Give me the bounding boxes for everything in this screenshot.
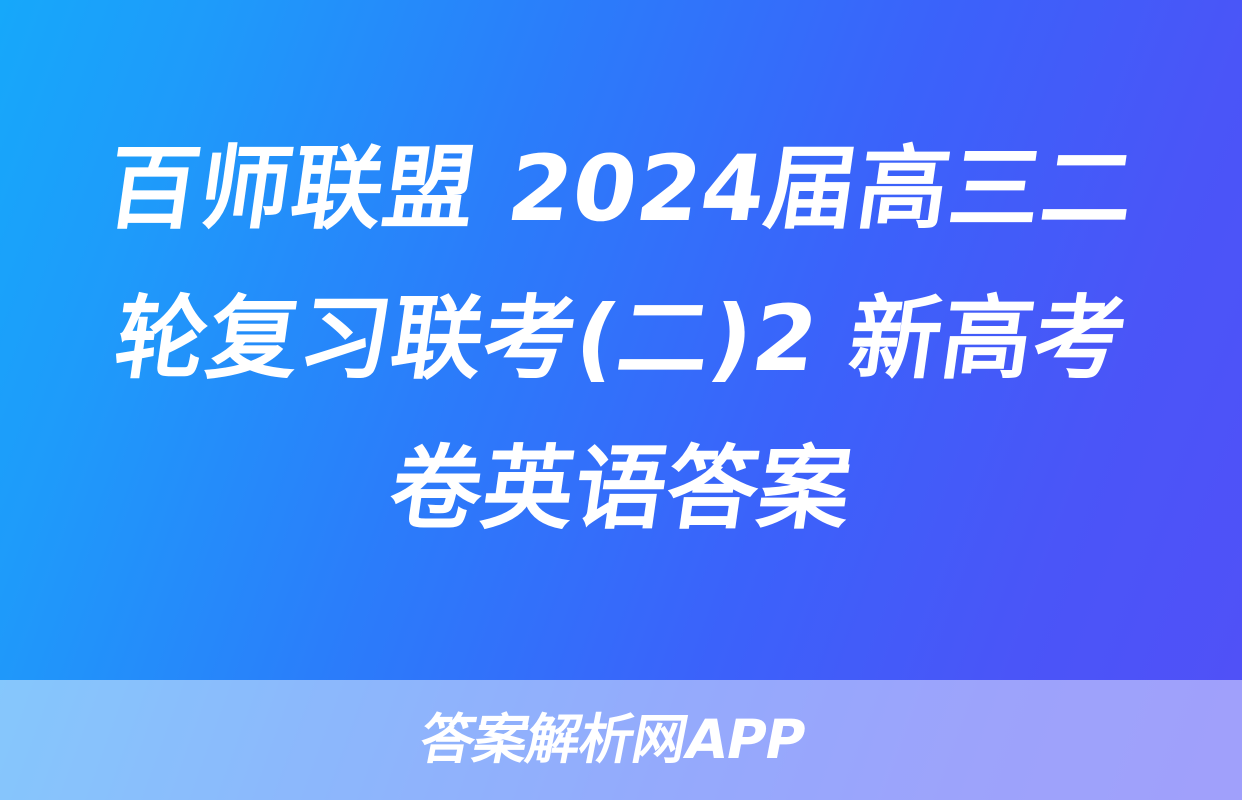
- watermark-container: 答案解析网APP: [0, 680, 1242, 800]
- watermark-brand-label: 答案解析网APP: [415, 713, 808, 767]
- watermark-band: 答案解析网APP: [0, 680, 1242, 800]
- page-title-line-2: 轮复习联考(二)2 新高考: [63, 265, 1178, 415]
- poster-title-block: 百师联盟 2024届高三二 轮复习联考(二)2 新高考 卷英语答案: [0, 0, 1242, 680]
- page-title-line-3: 卷英语答案: [63, 415, 1178, 565]
- page-title-line-1: 百师联盟 2024届高三二: [63, 115, 1178, 265]
- poster-canvas: 百师联盟 2024届高三二 轮复习联考(二)2 新高考 卷英语答案 答案解析网A…: [0, 0, 1242, 800]
